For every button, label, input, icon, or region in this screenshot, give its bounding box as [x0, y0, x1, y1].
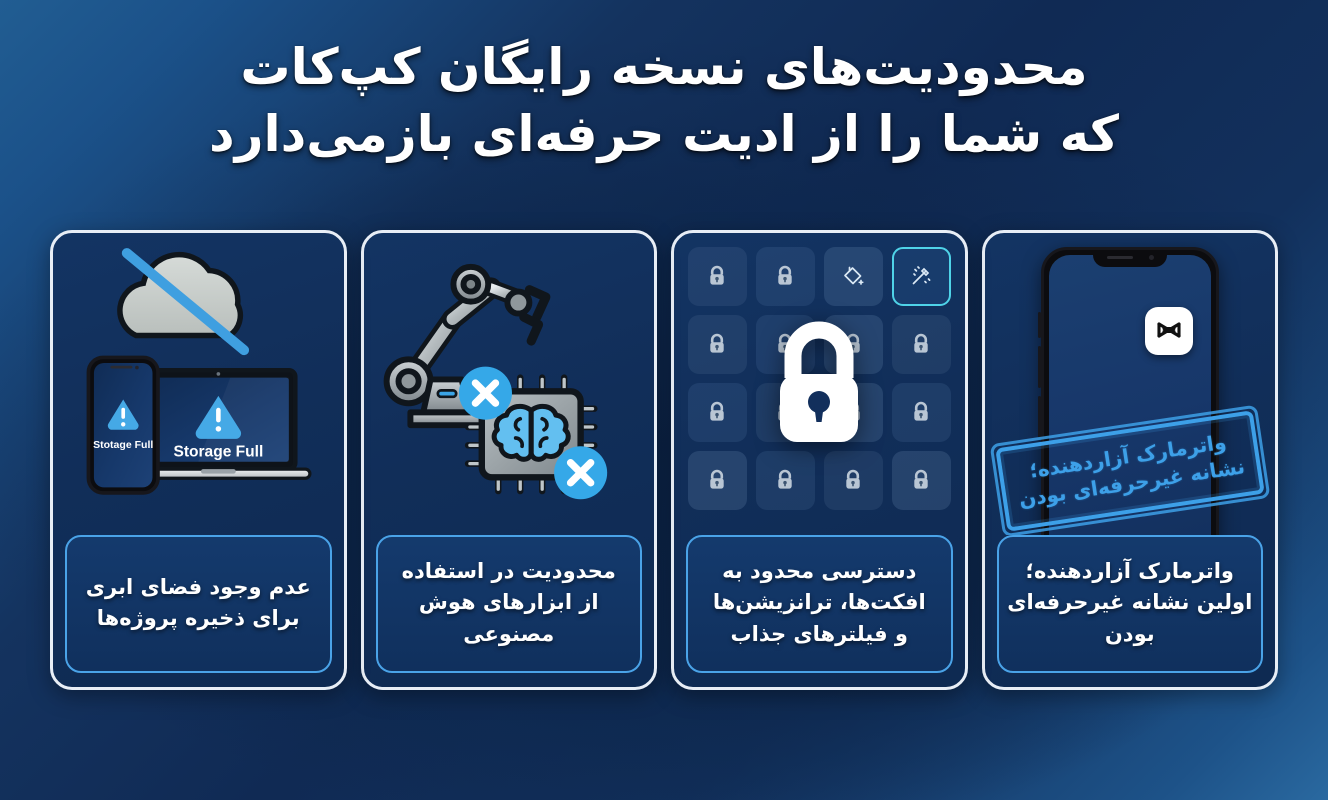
caption-line-1: عدم وجود فضای ابری [86, 572, 311, 604]
lock-icon [704, 331, 730, 357]
lock-icon [772, 467, 798, 493]
caption-line-3: بودن [1007, 619, 1252, 651]
page-title: محدودیت‌های نسخه رایگان کپ‌کات که شما را… [0, 34, 1328, 168]
effect-tile-locked-8[interactable] [688, 315, 747, 374]
phone-notch [1093, 250, 1167, 267]
card-no-cloud-storage[interactable]: Storage Full [50, 230, 347, 690]
phone-side-button [1038, 312, 1041, 338]
paint-bucket-icon [839, 262, 867, 290]
lock-icon [908, 467, 934, 493]
caption-line-1: محدودیت در استفاده [402, 556, 616, 588]
card-watermark[interactable]: واترمارک آزاردهنده؛ نشانه غیرحرفه‌ای بود… [982, 230, 1279, 690]
effect-tile-locked-5[interactable] [892, 315, 951, 374]
laptop-storage-label: Storage Full [173, 443, 263, 460]
smartphone-icon: Stotage Full [88, 357, 158, 492]
caption-line-2: برای ذخیره پروژه‌ها [86, 603, 311, 635]
caption-line-3: و فیلترهای جذاب [713, 619, 926, 651]
card-ai-tools-caption: محدودیت در استفاده از ابزارهای هوش مصنوع… [376, 535, 643, 673]
card-locked-effects-caption: دسترسی محدود به افکت‌ها، ترانزیشن‌ها و ف… [686, 535, 953, 673]
cards-row: واترمارک آزاردهنده؛ نشانه غیرحرفه‌ای بود… [50, 230, 1278, 690]
caption-line-1: واترمارک آزاردهنده؛ [1007, 556, 1252, 588]
effect-tile-locked-3[interactable] [756, 247, 815, 306]
lock-icon [908, 331, 934, 357]
lock-icon [704, 263, 730, 289]
cloud-disabled-icon [120, 253, 244, 350]
lock-icon [908, 399, 934, 425]
magic-wand-icon [907, 262, 935, 290]
effect-tile-locked-9[interactable] [892, 383, 951, 442]
effect-tile-locked-16[interactable] [688, 451, 747, 510]
phone-volume-down-button [1038, 396, 1041, 438]
caption-line-2: اولین نشانه غیرحرفه‌ای [1007, 587, 1252, 619]
effect-tile-magic-wand[interactable] [892, 247, 951, 306]
effect-tile-paint-bucket[interactable] [824, 247, 883, 306]
lock-icon [840, 467, 866, 493]
card-no-cloud-storage-art: Storage Full [53, 233, 344, 535]
lock-icon [704, 399, 730, 425]
effect-tile-locked-12[interactable] [688, 383, 747, 442]
card-ai-tools-art [364, 233, 655, 535]
big-lock-icon [763, 316, 875, 452]
effect-tile-locked-15[interactable] [756, 451, 815, 510]
effect-tile-locked-4[interactable] [688, 247, 747, 306]
x-badge-icon [458, 367, 511, 420]
x-badge-icon [554, 446, 607, 499]
card-watermark-art: واترمارک آزاردهنده؛ نشانه غیرحرفه‌ای بود… [985, 233, 1276, 535]
lock-icon [772, 263, 798, 289]
watermark-stamp: واترمارک آزاردهنده؛ نشانه غیرحرفه‌ای بود… [995, 410, 1265, 531]
card-locked-effects[interactable]: دسترسی محدود به افکت‌ها، ترانزیشن‌ها و ف… [671, 230, 968, 690]
phone-volume-up-button [1038, 346, 1041, 388]
card-no-cloud-storage-caption: عدم وجود فضای ابری برای ذخیره پروژه‌ها [65, 535, 332, 673]
infographic-canvas: محدودیت‌های نسخه رایگان کپ‌کات که شما را… [0, 0, 1328, 800]
title-line-1: محدودیت‌های نسخه رایگان کپ‌کات [0, 34, 1328, 101]
card-watermark-caption: واترمارک آزاردهنده؛ اولین نشانه غیرحرفه‌… [997, 535, 1264, 673]
caption-line-2: افکت‌ها، ترانزیشن‌ها [713, 587, 926, 619]
caption-line-1: دسترسی محدود به [713, 556, 926, 588]
caption-line-2: از ابزارهای هوش [402, 587, 616, 619]
phone-storage-label: Stotage Full [93, 439, 153, 451]
effect-tile-locked-13[interactable] [892, 451, 951, 510]
brain-icon [494, 406, 568, 459]
caption-line-3: مصنوعی [402, 619, 616, 651]
capcut-logo-icon [1145, 307, 1193, 355]
effect-tile-locked-14[interactable] [824, 451, 883, 510]
lock-icon [704, 467, 730, 493]
title-line-2: که شما را از ادیت حرفه‌ای بازمی‌دارد [0, 101, 1328, 168]
card-ai-tools[interactable]: محدودیت در استفاده از ابزارهای هوش مصنوع… [361, 230, 658, 690]
card-locked-effects-art [674, 233, 965, 535]
